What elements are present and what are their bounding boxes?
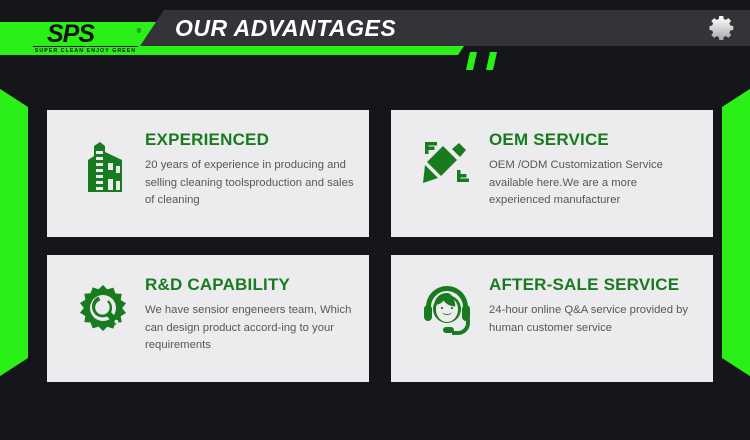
card-body: EXPERIENCED 20 years of experience in pr… [141, 124, 357, 210]
gear-wrench-icon [76, 283, 130, 337]
decorative-slash-2 [486, 52, 497, 70]
card-icon-wrapper [65, 269, 141, 337]
card-icon-wrapper [409, 124, 485, 190]
advantage-card-oem-service[interactable]: OEM SERVICE OEM /ODM Customization Servi… [391, 110, 713, 237]
brand-logo-text: SPS [47, 20, 94, 48]
card-description: 24-hour online Q&A service provided by h… [489, 302, 701, 337]
card-body: R&D CAPABILITY We have sensior engeneers… [141, 269, 357, 355]
card-description: 20 years of experience in producing and … [145, 157, 357, 210]
factory-building-icon [78, 138, 128, 194]
page-title: OUR ADVANTAGES [175, 13, 396, 43]
card-title: R&D CAPABILITY [145, 275, 357, 295]
card-icon-wrapper [65, 124, 141, 194]
card-title: EXPERIENCED [145, 130, 357, 150]
card-body: OEM SERVICE OEM /ODM Customization Servi… [485, 124, 701, 210]
card-title: AFTER-SALE SERVICE [489, 275, 701, 295]
advantage-card-after-sale-service[interactable]: AFTER-SALE SERVICE 24-hour online Q&A se… [391, 255, 713, 382]
card-title: OEM SERVICE [489, 130, 701, 150]
pencil-edit-icon [421, 138, 473, 190]
card-description: We have sensior engeneers team, Which ca… [145, 302, 357, 355]
gear-icon [707, 13, 737, 43]
page-header: OUR ADVANTAGES SPS ® SUPER CLEAN ENJOY G… [0, 0, 750, 90]
brand-logo-mark: SPS ® [33, 23, 138, 45]
brand-logo[interactable]: SPS ® SUPER CLEAN ENJOY GREEN [33, 23, 138, 57]
headset-support-icon [419, 283, 475, 339]
advantage-card-rd-capability[interactable]: R&D CAPABILITY We have sensior engeneers… [47, 255, 369, 382]
left-chevron-decoration [0, 85, 28, 380]
card-icon-wrapper [409, 269, 485, 339]
card-description: OEM /ODM Customization Service available… [489, 157, 701, 210]
advantages-banner: OUR ADVANTAGES SPS ® SUPER CLEAN ENJOY G… [0, 0, 750, 440]
decorative-slash-1 [466, 52, 477, 70]
advantage-card-experienced[interactable]: EXPERIENCED 20 years of experience in pr… [47, 110, 369, 237]
registered-trademark-icon: ® [137, 21, 140, 43]
card-body: AFTER-SALE SERVICE 24-hour online Q&A se… [485, 269, 701, 337]
advantages-card-grid: EXPERIENCED 20 years of experience in pr… [47, 110, 713, 382]
right-chevron-decoration [722, 85, 750, 380]
settings-button[interactable] [704, 10, 740, 46]
